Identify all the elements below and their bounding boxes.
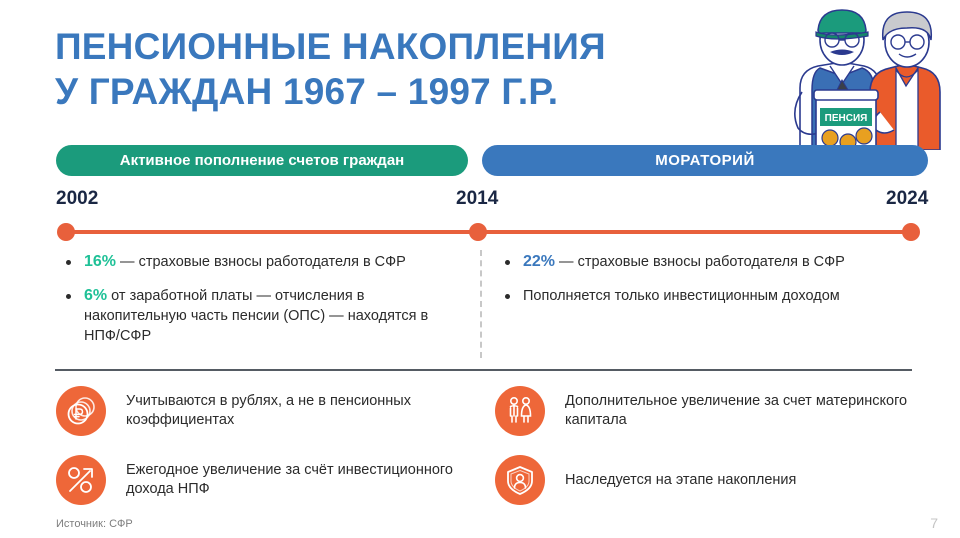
bullet-content: Пополняется только инвестиционным доходо…: [523, 286, 840, 306]
feature-item-maternity-capital: Дополнительное увеличение за счет матери…: [495, 386, 915, 436]
percent-value: 6%: [84, 287, 107, 304]
list-item: 16% — страховые взносы работодателя в СФ…: [66, 252, 466, 272]
list-item: 22% — страховые взносы работодателя в СФ…: [505, 252, 925, 272]
banner-active-period: Активное пополнение счетов граждан: [56, 145, 468, 176]
elderly-couple-illustration: ПЕНСИЯ: [772, 0, 942, 150]
banner-moratorium: МОРАТОРИЙ: [482, 145, 928, 176]
bullet-marker-icon: [66, 260, 71, 265]
bullet-body: страховые взносы работодателя в СФР: [578, 254, 845, 270]
page-number: 7: [930, 515, 938, 531]
timeline-dot-2002: [57, 223, 75, 241]
feature-item-inheritance: Наследуется на этапе накопления: [495, 455, 915, 505]
shield-person-icon: [495, 455, 545, 505]
jar-label: ПЕНСИЯ: [825, 113, 868, 124]
timeline-year-2024: 2024: [886, 188, 928, 210]
family-icon: [495, 386, 545, 436]
timeline-dot-2024: [902, 223, 920, 241]
bullet-content: 22% — страховые взносы работодателя в СФ…: [523, 252, 845, 272]
bullet-body: страховые взносы работодателя в СФР: [139, 254, 406, 270]
bullet-dash: —: [555, 254, 578, 270]
bullet-column-left: 16% — страховые взносы работодателя в СФ…: [66, 252, 466, 360]
bullet-body: от заработной платы — отчисления в накоп…: [84, 288, 428, 344]
feature-label: Учитываются в рублях, а не в пенсионных …: [126, 392, 466, 430]
percent-value: 16%: [84, 253, 116, 270]
timeline-year-2002: 2002: [56, 188, 98, 210]
timeline-year-2014: 2014: [456, 188, 498, 210]
bullet-marker-icon: [505, 294, 510, 299]
source-note: Источник: СФР: [56, 518, 133, 530]
column-divider: [480, 250, 482, 358]
bullet-marker-icon: [66, 294, 71, 299]
timeline-axis: [66, 230, 911, 234]
page-title: ПЕНСИОННЫЕ НАКОПЛЕНИЯ У ГРАЖДАН 1967 – 1…: [55, 24, 755, 114]
bullet-content: 16% — страховые взносы работодателя в СФ…: [84, 252, 406, 272]
feature-label: Дополнительное увеличение за счет матери…: [565, 392, 915, 430]
bullet-marker-icon: [505, 260, 510, 265]
percent-growth-icon: [56, 455, 106, 505]
feature-item-rubles: Учитываются в рублях, а не в пенсионных …: [56, 386, 466, 436]
slide: ПЕНСИОННЫЕ НАКОПЛЕНИЯ У ГРАЖДАН 1967 – 1…: [0, 0, 960, 538]
title-line-1: ПЕНСИОННЫЕ НАКОПЛЕНИЯ: [55, 24, 755, 69]
pension-jar-icon: ПЕНСИЯ: [814, 90, 878, 150]
list-item: 6% от заработной платы — отчисления в на…: [66, 286, 466, 346]
percent-value: 22%: [523, 253, 555, 270]
feature-label: Наследуется на этапе накопления: [565, 471, 796, 490]
bullet-body: Пополняется только инвестиционным доходо…: [523, 288, 840, 304]
timeline-dot-2014: [469, 223, 487, 241]
bullet-dash: —: [116, 254, 139, 270]
title-line-2: У ГРАЖДАН 1967 – 1997 Г.Р.: [55, 69, 755, 114]
list-item: Пополняется только инвестиционным доходо…: [505, 286, 925, 306]
feature-item-annual-growth: Ежегодное увеличение за счёт инвестицион…: [56, 455, 466, 505]
bullet-content: 6% от заработной платы — отчисления в на…: [84, 286, 466, 346]
ruble-coins-icon: [56, 386, 106, 436]
feature-label: Ежегодное увеличение за счёт инвестицион…: [126, 461, 466, 499]
bullet-column-right: 22% — страховые взносы работодателя в СФ…: [505, 252, 925, 320]
section-divider: [55, 369, 912, 371]
